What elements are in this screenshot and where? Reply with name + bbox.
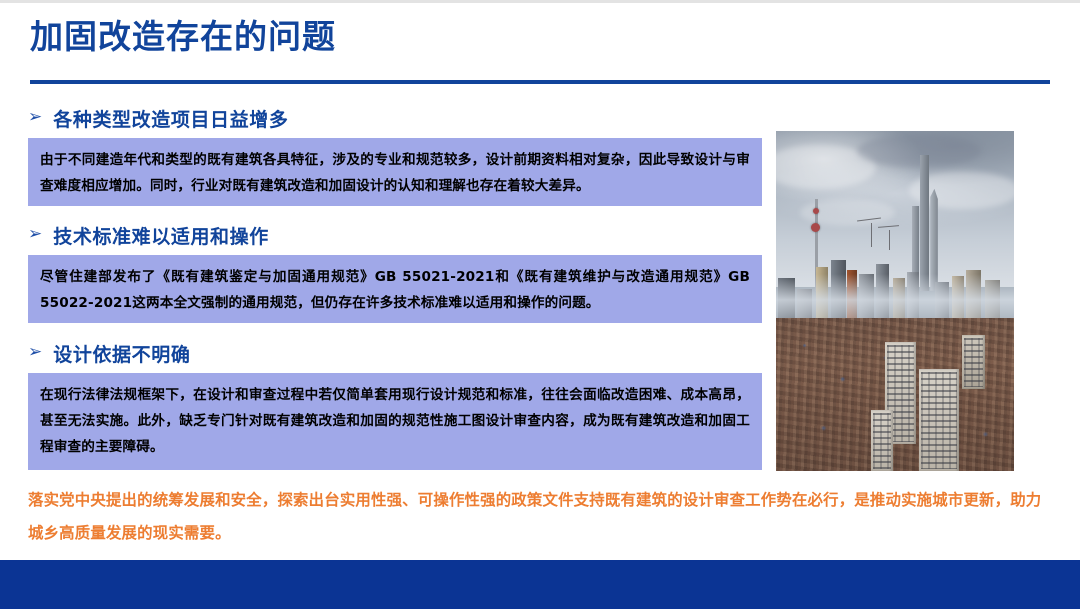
section-body-3: 在现行法律法规框架下，在设计和审查过程中若仅简单套用现行设计规范和标准，往往会面… bbox=[28, 373, 762, 470]
arrow-bullet-icon: ➢ bbox=[28, 344, 42, 361]
top-edge-divider bbox=[0, 0, 1080, 3]
foreground-apartment-block bbox=[919, 369, 959, 471]
photo-haze-band bbox=[776, 274, 1014, 322]
title-underline-rule bbox=[30, 80, 1050, 84]
oriental-pearl-sphere bbox=[813, 208, 819, 214]
cityscape-photo-render bbox=[776, 131, 1014, 471]
section-heading-1-text: 各种类型改造项目日益增多 bbox=[53, 105, 288, 132]
section-heading-3: ➢ 设计依据不明确 bbox=[28, 340, 190, 367]
section-heading-3-text: 设计依据不明确 bbox=[53, 340, 190, 367]
conclusion-text: 落实党中央提出的统筹发展和安全，探索出台实用性强、可操作性强的政策文件支持既有建… bbox=[28, 484, 1050, 550]
section-heading-2-text: 技术标准难以适用和操作 bbox=[53, 222, 269, 249]
section-heading-2: ➢ 技术标准难以适用和操作 bbox=[28, 222, 269, 249]
section-heading-1: ➢ 各种类型改造项目日益增多 bbox=[28, 105, 288, 132]
footer-bar bbox=[0, 560, 1080, 609]
oriental-pearl-sphere bbox=[811, 223, 820, 232]
slide-canvas: 加固改造存在的问题 ➢ 各种类型改造项目日益增多 由于不同建造年代和类型的既有建… bbox=[0, 0, 1080, 609]
section-body-2: 尽管住建部发布了《既有建筑鉴定与加固通用规范》GB 55021-2021和《既有… bbox=[28, 255, 762, 323]
arrow-bullet-icon: ➢ bbox=[28, 226, 42, 243]
foreground-apartment-block bbox=[962, 335, 986, 389]
foreground-apartment-block bbox=[871, 410, 892, 471]
arrow-bullet-icon: ➢ bbox=[28, 109, 42, 126]
section-body-1: 由于不同建造年代和类型的既有建筑各具特征，涉及的专业和规范较多，设计前期资料相对… bbox=[28, 138, 762, 206]
cityscape-photo bbox=[776, 131, 1014, 471]
page-title: 加固改造存在的问题 bbox=[30, 16, 336, 59]
